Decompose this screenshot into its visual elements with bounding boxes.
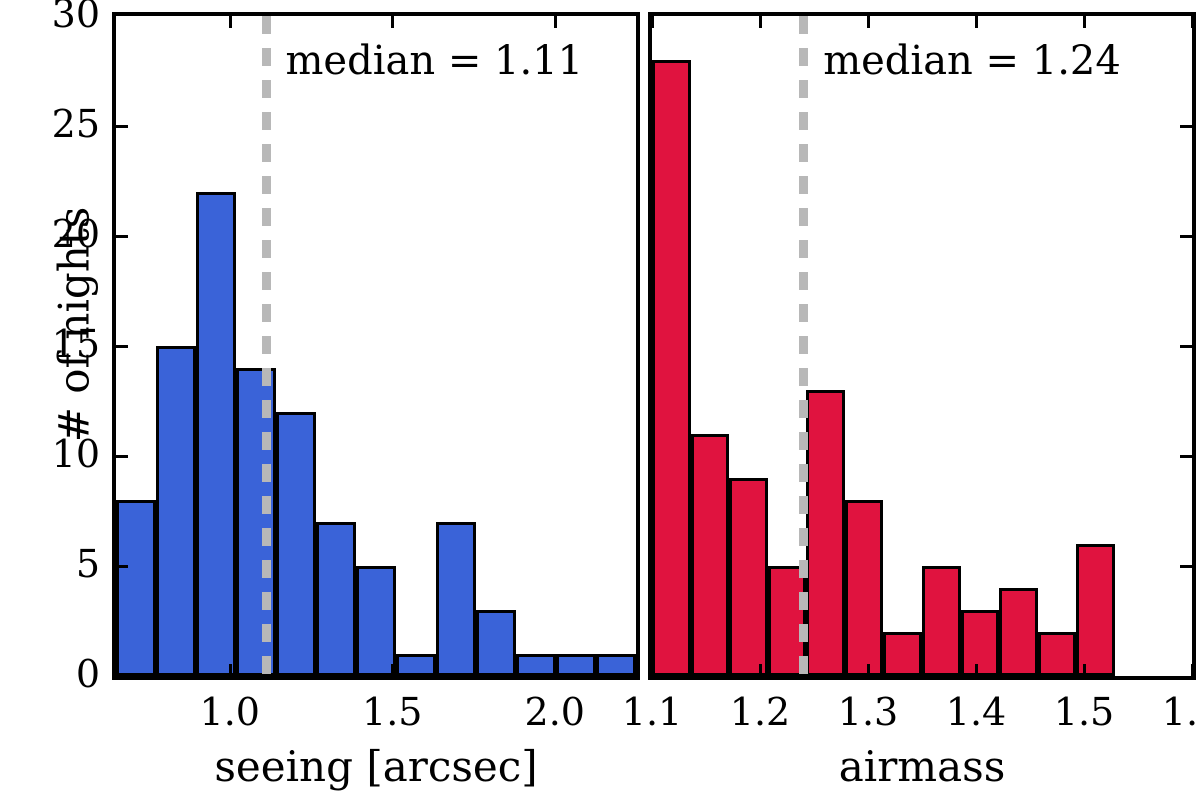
x-tick-label: 1.3 (838, 690, 898, 734)
y-tick-mark (116, 345, 128, 348)
histogram-bar (691, 434, 730, 676)
histogram-bar (729, 478, 768, 676)
airmass-plot-area (652, 16, 1192, 676)
x-tick-mark (975, 664, 978, 676)
histogram-bar (396, 654, 436, 676)
y-tick-label: 25 (40, 105, 100, 143)
x-tick-mark (1191, 664, 1192, 676)
histogram-bar (768, 566, 807, 676)
histogram-bar (596, 654, 636, 676)
histogram-bar (845, 500, 884, 676)
x-tick-mark (759, 664, 762, 676)
histogram-bar (236, 368, 276, 676)
histogram-bar (806, 390, 845, 676)
histogram-bar (156, 346, 196, 676)
y-tick-mark (1180, 345, 1192, 348)
histogram-bar (1038, 632, 1077, 676)
x-tick-label: 1.2 (730, 690, 790, 734)
seeing-plot-area (116, 16, 636, 676)
y-tick-mark (116, 565, 128, 568)
x-tick-mark (1083, 16, 1086, 28)
histogram-bar (476, 610, 516, 676)
y-tick-mark (1180, 565, 1192, 568)
x-tick-label: 1.0 (200, 690, 260, 734)
histogram-bar (999, 588, 1038, 676)
seeing-median-annotation: median = 1.11 (286, 38, 584, 84)
airmass-x-axis-label: airmass (839, 742, 1006, 791)
histogram-bar (316, 522, 356, 676)
y-tick-mark (116, 125, 128, 128)
x-tick-mark (867, 664, 870, 676)
x-tick-mark (554, 664, 557, 676)
x-tick-label: 1.1 (622, 690, 682, 734)
x-tick-mark (975, 16, 978, 28)
histogram-bar (516, 654, 556, 676)
y-tick-mark (1180, 125, 1192, 128)
seeing-histogram-panel: median = 1.11 (112, 12, 640, 680)
histogram-bar (276, 412, 316, 676)
airmass-median-annotation: median = 1.24 (823, 38, 1121, 84)
histogram-bar (961, 610, 1000, 676)
histogram-figure: # of nights 302520151050 median = 1.11 m… (0, 0, 1200, 797)
y-tick-mark (1180, 455, 1192, 458)
histogram-bar (922, 566, 961, 676)
x-tick-mark (554, 16, 557, 28)
x-tick-mark (759, 16, 762, 28)
y-tick-label: 30 (40, 0, 100, 33)
y-tick-mark (116, 235, 128, 238)
y-tick-label-group: 302520151050 (32, 0, 100, 797)
x-tick-label: 2.0 (525, 690, 585, 734)
histogram-bar (556, 654, 596, 676)
y-tick-label: 20 (40, 215, 100, 253)
x-tick-label: 1.5 (1054, 690, 1114, 734)
histogram-bar (652, 60, 691, 676)
x-tick-mark (1191, 16, 1192, 28)
x-tick-label: 1.6 (1162, 690, 1200, 734)
histogram-bar (116, 500, 156, 676)
y-tick-label: 15 (40, 325, 100, 363)
x-tick-mark (867, 16, 870, 28)
y-tick-mark (116, 455, 128, 458)
x-tick-label: 1.5 (362, 690, 422, 734)
x-tick-mark (1083, 664, 1086, 676)
histogram-bar (883, 632, 922, 676)
y-tick-label: 0 (40, 655, 100, 693)
histogram-bar (436, 522, 476, 676)
histogram-bar (196, 192, 236, 676)
y-tick-label: 10 (40, 435, 100, 473)
airmass-histogram-panel: median = 1.24 (648, 12, 1196, 680)
x-tick-mark (229, 16, 232, 28)
x-tick-mark (391, 16, 394, 28)
x-tick-mark (229, 664, 232, 676)
y-tick-mark (1180, 235, 1192, 238)
x-tick-mark (652, 16, 654, 28)
seeing-x-axis-label: seeing [arcsec] (214, 742, 537, 791)
histogram-bar (1076, 544, 1115, 676)
histogram-bar (356, 566, 396, 676)
x-tick-mark (391, 664, 394, 676)
y-tick-label: 5 (40, 545, 100, 583)
x-tick-label: 1.4 (946, 690, 1006, 734)
x-tick-mark (652, 664, 654, 676)
